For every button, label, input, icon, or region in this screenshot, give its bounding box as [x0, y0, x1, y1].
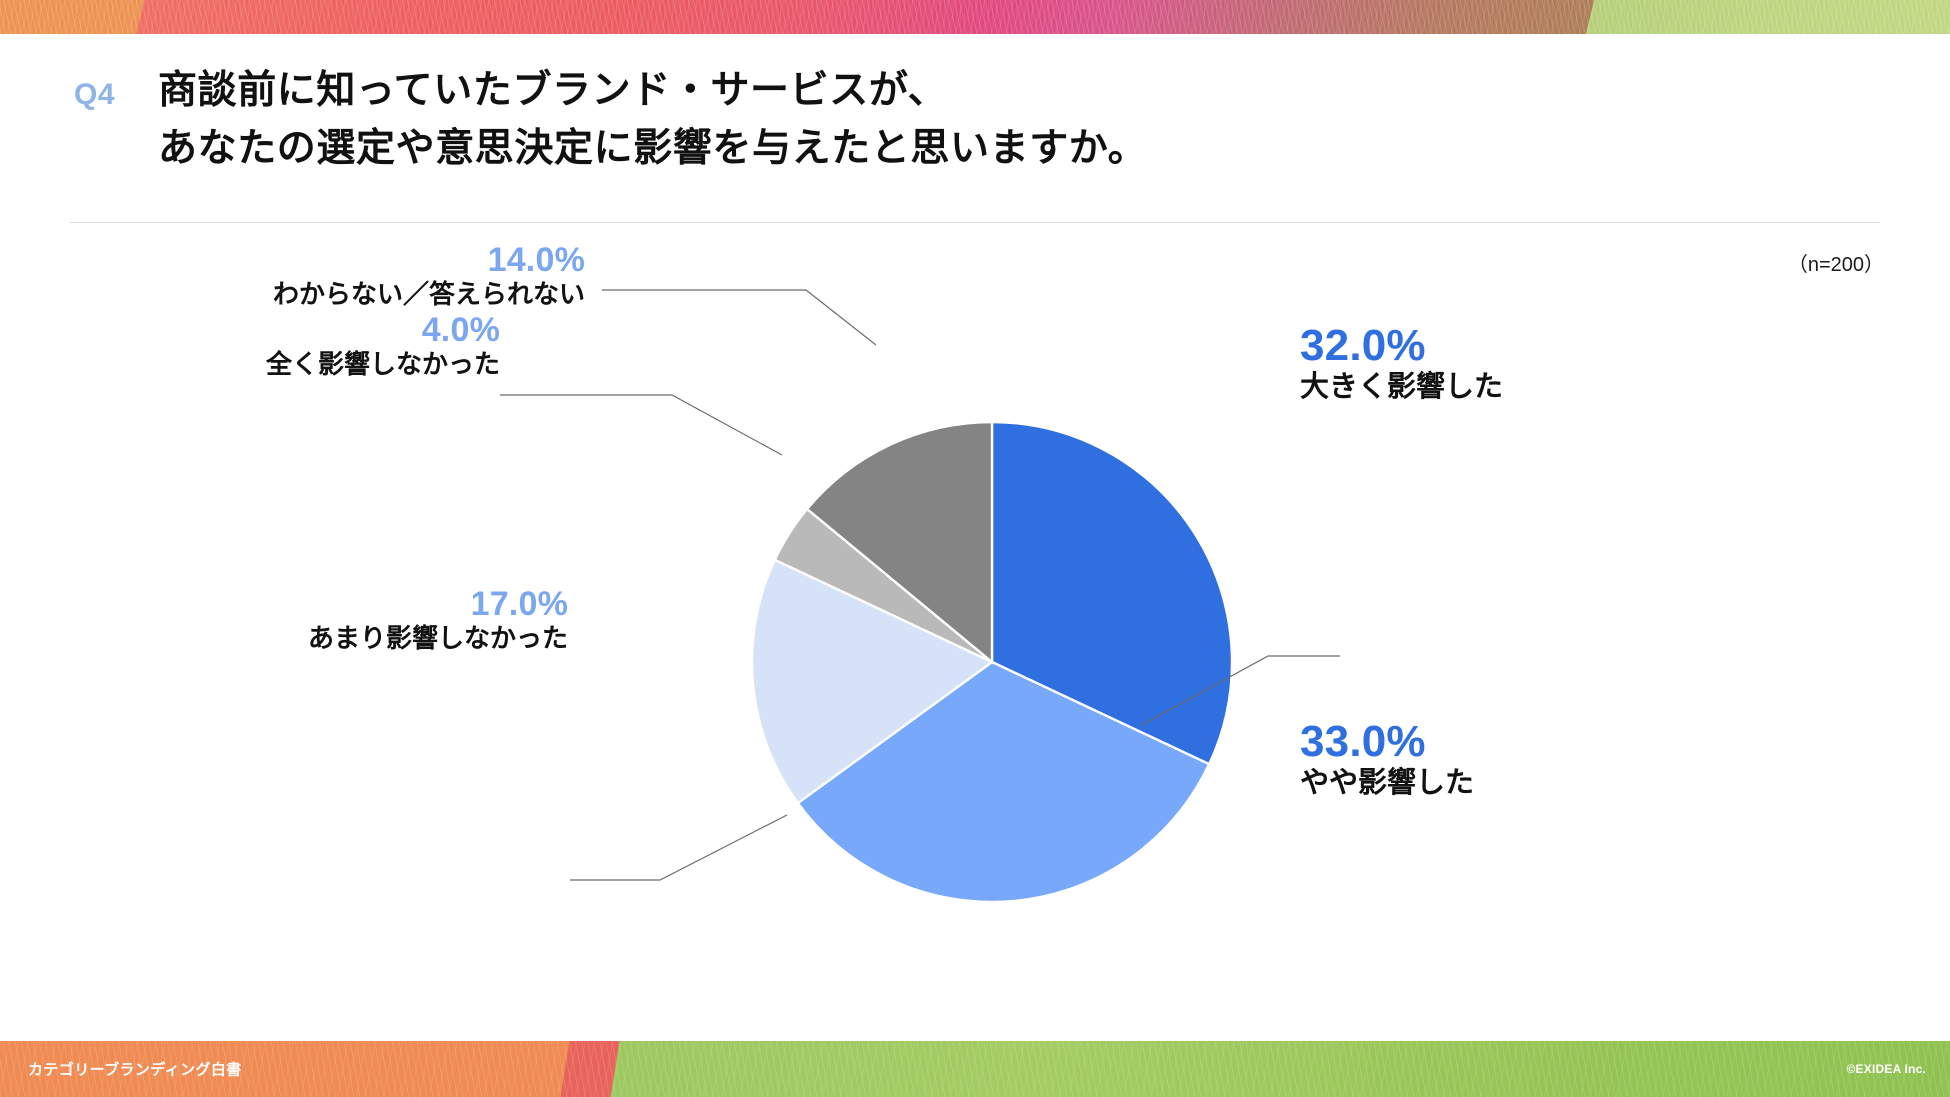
bottom-band-texture	[0, 1041, 1950, 1097]
slide-root: Q4 商談前に知っていたブランド・サービスが、 あなたの選定や意思決定に影響を与…	[0, 0, 1950, 1097]
footer-title: カテゴリーブランディング白書	[28, 1059, 242, 1080]
callout-slice-4: 14.0% わからない／答えられない	[273, 241, 585, 310]
callout-slice-1-percent: 33.0%	[1300, 717, 1474, 766]
leader-line-slice-3	[500, 395, 782, 455]
footer-copyright: ©EXIDEA Inc.	[1847, 1062, 1926, 1076]
callout-slice-1: 33.0% やや影響した	[1300, 717, 1474, 801]
pie-slice-group	[752, 422, 1232, 902]
pie-chart: 14.0% わからない／答えられない 4.0% 全く影響しなかった 17.0% …	[0, 255, 1950, 1035]
callout-slice-1-label: やや影響した	[1300, 766, 1474, 801]
page-title-line-2: あなたの選定や意思決定に影響を与えたと思いますか。	[158, 120, 1458, 178]
question-number-label: Q4	[74, 78, 115, 112]
callout-slice-3: 4.0% 全く影響しなかった	[266, 311, 500, 380]
callout-slice-2-label: あまり影響しなかった	[308, 623, 568, 654]
header-divider	[70, 222, 1880, 223]
callout-slice-4-label: わからない／答えられない	[273, 279, 585, 310]
bottom-decor-band: カテゴリーブランディング白書 ©EXIDEA Inc.	[0, 1041, 1950, 1097]
top-band-texture	[0, 0, 1950, 34]
callout-slice-4-percent: 14.0%	[273, 241, 585, 279]
leader-line-slice-2	[570, 815, 787, 880]
callout-slice-0-label: 大きく影響した	[1300, 370, 1503, 405]
page-title: 商談前に知っていたブランド・サービスが、 あなたの選定や意思決定に影響を与えたと…	[158, 62, 1458, 177]
page-title-line-1: 商談前に知っていたブランド・サービスが、	[158, 62, 1458, 120]
callout-slice-0: 32.0% 大きく影響した	[1300, 321, 1503, 405]
leader-line-slice-4	[602, 290, 876, 345]
callout-slice-3-percent: 4.0%	[266, 311, 500, 349]
top-decor-band	[0, 0, 1950, 34]
callout-slice-0-percent: 32.0%	[1300, 321, 1503, 370]
callout-slice-2-percent: 17.0%	[308, 585, 568, 623]
callout-slice-2: 17.0% あまり影響しなかった	[308, 585, 568, 654]
callout-slice-3-label: 全く影響しなかった	[266, 349, 500, 380]
